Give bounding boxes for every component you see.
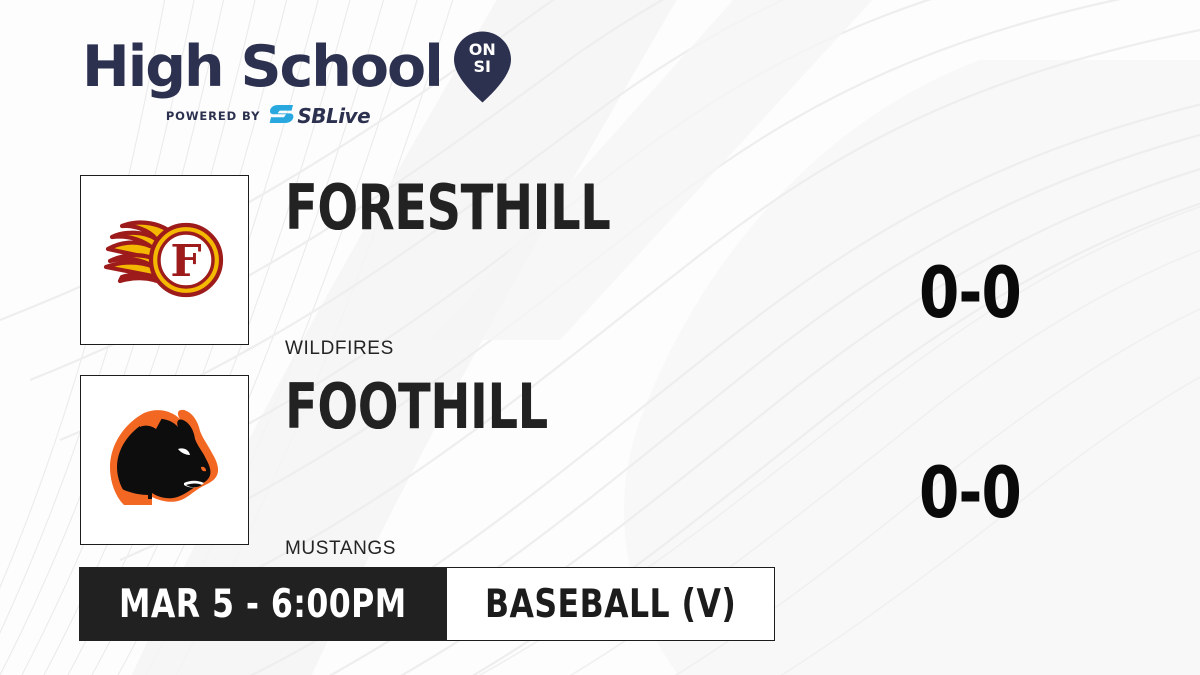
team-logo-box [80,375,249,545]
team-name: FOOTHILL [285,376,548,438]
game-info-bar: MAR 5 - 6:00PM BASEBALL (V) [79,567,775,641]
brand-logo: High School ON SI POWERED BY SBLive [82,34,512,134]
game-datetime-label: MAR 5 - 6:00PM [119,585,407,624]
page-title: High School [82,39,442,96]
powered-by-label: POWERED BY [166,109,260,123]
powered-by-row: POWERED BY SBLive [82,106,454,126]
sblive-s-mark-icon [269,104,295,129]
foresthill-flaming-f-logo-icon: F [100,215,230,305]
svg-text:F: F [170,236,201,287]
brand-title-row: High School ON SI [82,34,512,100]
team-name: FORESTHILL [285,177,610,239]
scoreboard-graphic: High School ON SI POWERED BY SBLive [0,0,1200,675]
game-sport-label: BASEBALL (V) [485,585,736,624]
game-sport-block: BASEBALL (V) [447,567,775,641]
team-logo-box: F [80,175,249,345]
team-mascot: WILDFIRES [285,339,394,358]
map-pin-label: ON SI [453,42,512,75]
team-score: 0-0 [869,258,1071,328]
team-mascot: MUSTANGS [285,539,396,558]
game-datetime-block: MAR 5 - 6:00PM [79,567,447,641]
team-score: 0-0 [869,458,1071,528]
pin-text-si: SI [474,57,491,76]
map-pin-icon: ON SI [453,31,512,103]
foothill-mustang-horse-logo-icon [100,405,230,515]
sblive-wordmark: SBLive [297,106,370,126]
